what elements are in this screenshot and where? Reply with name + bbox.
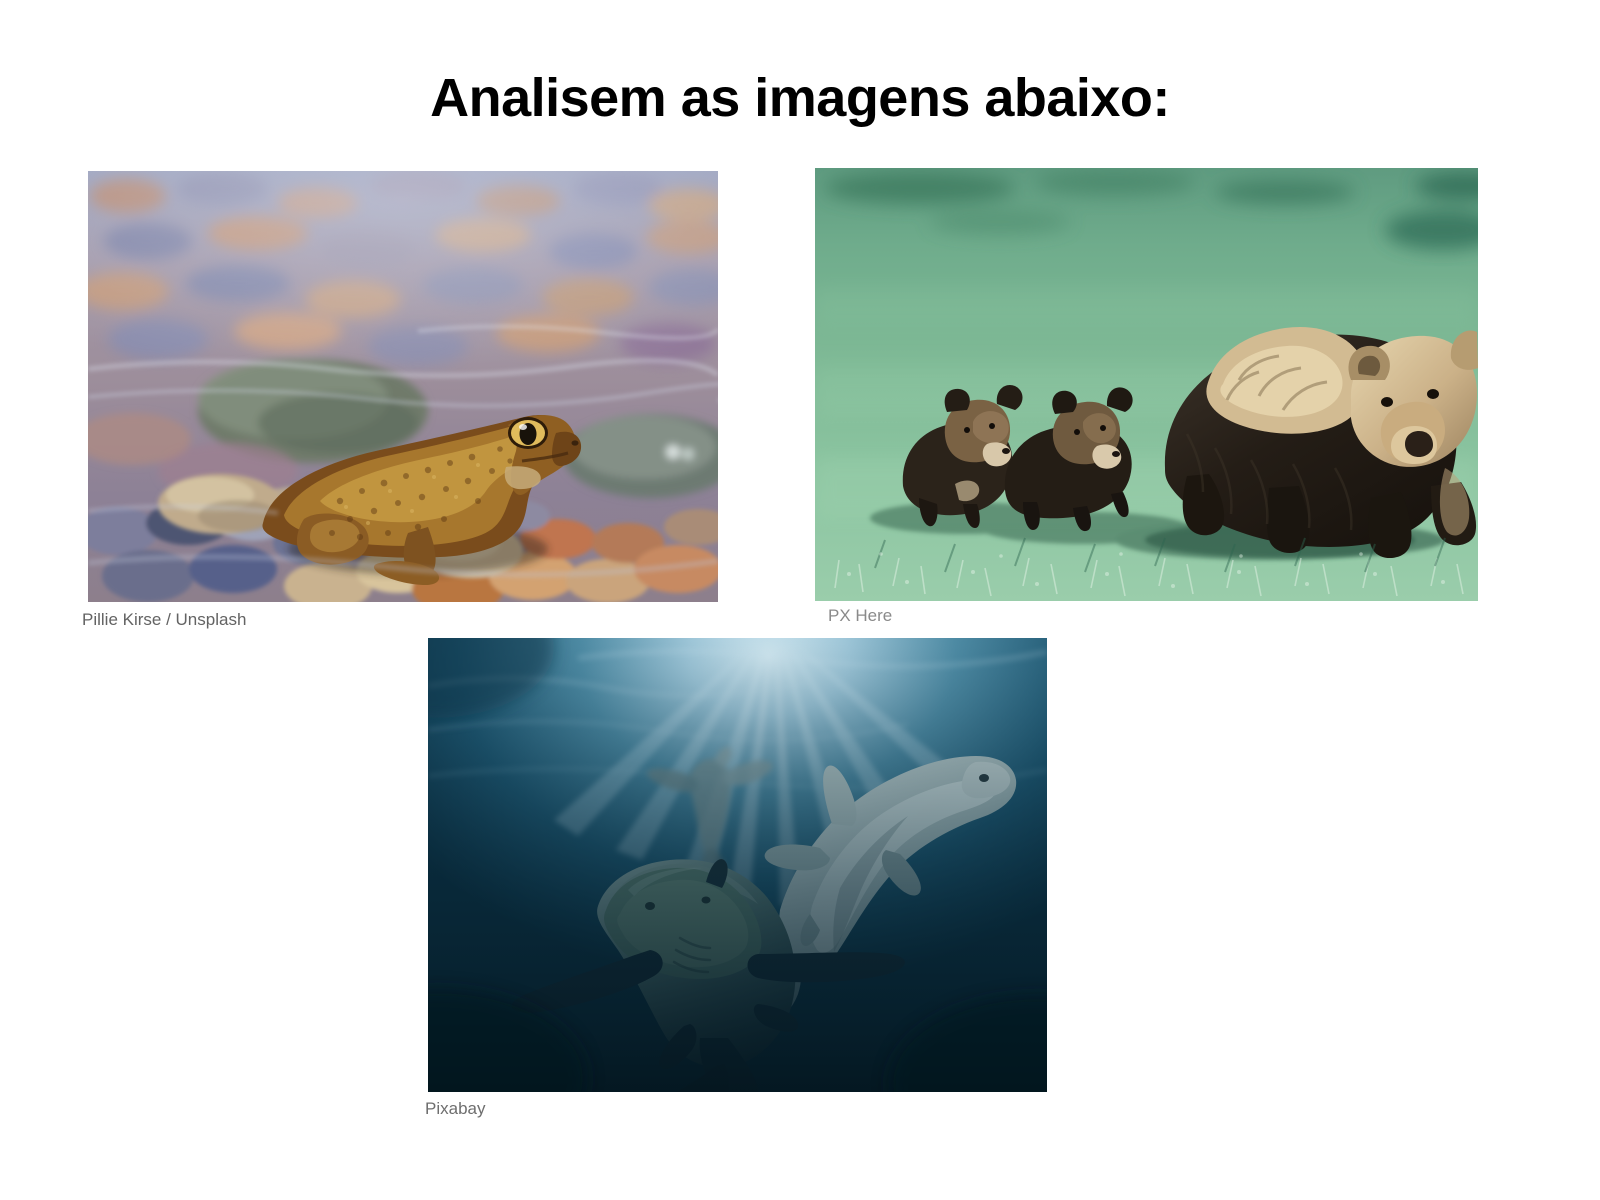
caption-bears: PX Here	[828, 605, 1478, 627]
caption-frog: Pillie Kirse / Unsplash	[82, 609, 718, 631]
image-bears[interactable]	[815, 168, 1478, 601]
figure-bears: PX Here	[815, 168, 1478, 627]
page-title: Analisem as imagens abaixo:	[0, 68, 1600, 128]
image-frog[interactable]	[88, 171, 718, 602]
caption-sharks: Pixabay	[425, 1098, 1047, 1120]
figure-frog: Pillie Kirse / Unsplash	[88, 171, 718, 631]
figure-sharks: Pixabay	[428, 638, 1047, 1120]
image-sharks[interactable]	[428, 638, 1047, 1092]
